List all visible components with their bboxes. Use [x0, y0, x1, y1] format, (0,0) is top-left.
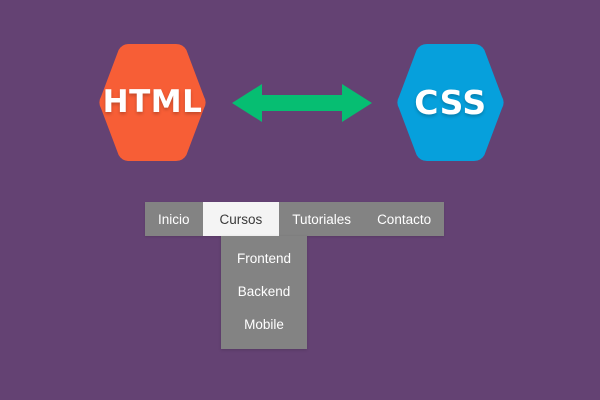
css-badge-label: CSS	[414, 86, 486, 119]
html-hexagon-badge: HTML	[99, 42, 206, 163]
menu-item-inicio[interactable]: Inicio	[145, 202, 203, 236]
dropdown-item-backend[interactable]: Backend	[221, 275, 307, 308]
dropdown-item-label: Backend	[238, 284, 291, 299]
menu-item-label: Inicio	[158, 212, 190, 227]
menu-item-label: Contacto	[377, 212, 431, 227]
illustration-canvas: HTML CSS Inicio Cursos Tutoriales Contac…	[0, 0, 600, 400]
dropdown-item-label: Mobile	[244, 317, 284, 332]
html-badge-label: HTML	[103, 87, 203, 118]
dropdown-item-frontend[interactable]: Frontend	[221, 242, 307, 275]
menu-item-label: Cursos	[220, 212, 263, 227]
double-headed-arrow-icon	[232, 82, 372, 124]
navigation-menu-bar: Inicio Cursos Tutoriales Contacto	[145, 202, 444, 236]
menu-item-contacto[interactable]: Contacto	[364, 202, 444, 236]
dropdown-menu-cursos: Frontend Backend Mobile	[221, 236, 307, 349]
dropdown-item-label: Frontend	[237, 251, 291, 266]
bidirectional-arrow	[232, 82, 372, 124]
dropdown-item-mobile[interactable]: Mobile	[221, 308, 307, 341]
menu-item-tutoriales[interactable]: Tutoriales	[279, 202, 364, 236]
menu-item-cursos[interactable]: Cursos	[203, 202, 280, 236]
menu-item-label: Tutoriales	[292, 212, 351, 227]
css-hexagon-badge: CSS	[397, 42, 504, 163]
